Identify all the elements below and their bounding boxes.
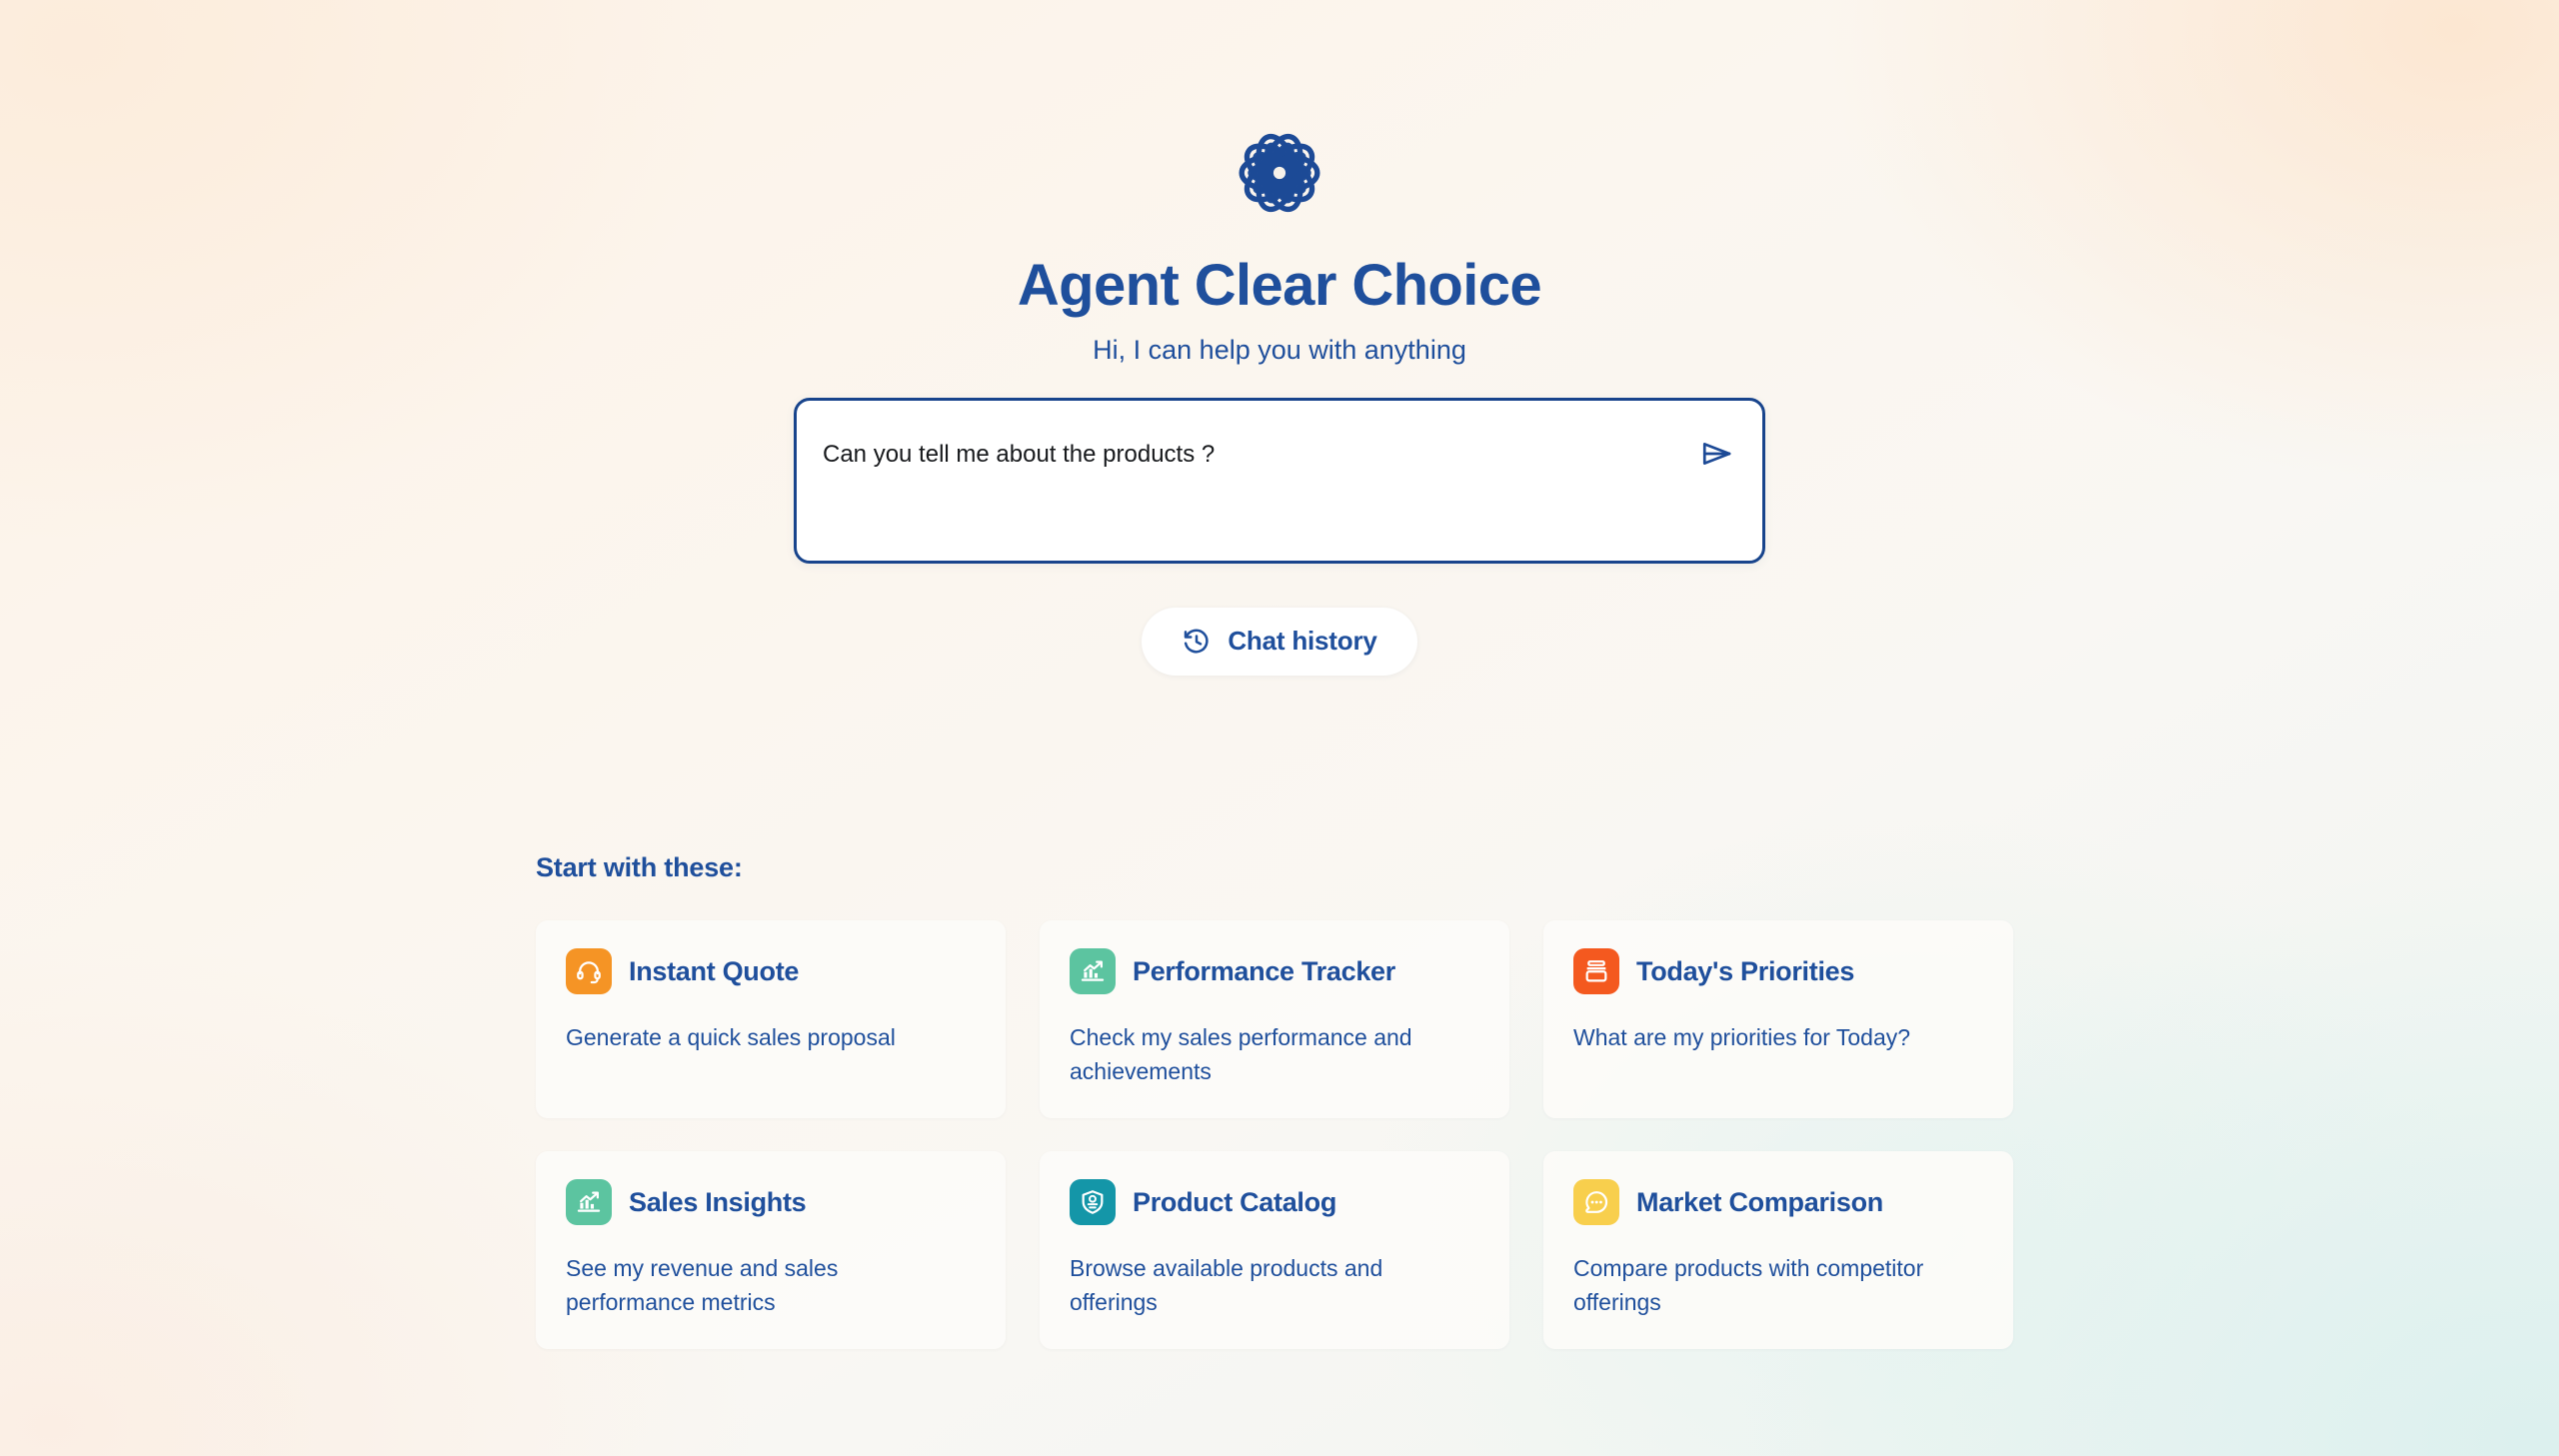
card-header: Performance Tracker [1070,948,1479,994]
chat-bubble-dots-icon [1573,1179,1619,1225]
send-paper-plane-icon [1700,437,1734,471]
card-title: Performance Tracker [1133,956,1395,987]
suggestion-card-performance-tracker[interactable]: Performance Tracker Check my sales perfo… [1040,920,1509,1118]
card-title: Product Catalog [1133,1187,1336,1218]
card-description: Browse available products and offerings [1070,1251,1469,1319]
card-description: Compare products with competitor offerin… [1573,1251,1973,1319]
suggestion-card-market-comparison[interactable]: Market Comparison Compare products with … [1543,1151,2013,1349]
shield-badge-icon [1070,1179,1116,1225]
card-description: Generate a quick sales proposal [566,1020,966,1054]
suggestions-heading: Start with these: [536,852,2023,883]
card-title: Instant Quote [629,956,799,987]
card-title: Sales Insights [629,1187,806,1218]
card-header: Sales Insights [566,1179,976,1225]
card-header: Product Catalog [1070,1179,1479,1225]
card-title: Market Comparison [1636,1187,1883,1218]
chat-history-label: Chat history [1228,626,1376,657]
suggestion-card-product-catalog[interactable]: Product Catalog Browse available product… [1040,1151,1509,1349]
page-title: Agent Clear Choice [1018,256,1541,317]
app-root: Agent Clear Choice Hi, I can help you wi… [0,0,2559,1456]
send-button[interactable] [1694,431,1740,477]
message-input[interactable]: Can you tell me about the products ? [823,439,1672,471]
card-title: Today's Priorities [1636,956,1854,987]
clock-history-icon [1182,627,1212,657]
card-header: Instant Quote [566,948,976,994]
atom-flower-logo-icon [1219,112,1340,234]
headset-icon [566,948,612,994]
suggestion-card-instant-quote[interactable]: Instant Quote Generate a quick sales pro… [536,920,1006,1118]
card-description: What are my priorities for Today? [1573,1020,1973,1054]
hero-section: Agent Clear Choice Hi, I can help you wi… [0,0,2559,676]
card-header: Market Comparison [1573,1179,1983,1225]
suggestion-card-sales-insights[interactable]: Sales Insights See my revenue and sales … [536,1151,1006,1349]
chat-history-button[interactable]: Chat history [1142,608,1416,676]
card-description: See my revenue and sales performance met… [566,1251,966,1319]
suggestions-section: Start with these: Instant Quote Gen [536,852,2023,1349]
chart-trend-up-icon [566,1179,612,1225]
page-subtitle: Hi, I can help you with anything [1093,335,1466,366]
inbox-tray-icon [1573,948,1619,994]
card-header: Today's Priorities [1573,948,1983,994]
suggestion-card-todays-priorities[interactable]: Today's Priorities What are my prioritie… [1543,920,2013,1118]
chart-trend-up-icon [1070,948,1116,994]
card-description: Check my sales performance and achieveme… [1070,1020,1469,1088]
suggestion-card-grid: Instant Quote Generate a quick sales pro… [536,920,2023,1349]
message-composer[interactable]: Can you tell me about the products ? [794,398,1765,564]
